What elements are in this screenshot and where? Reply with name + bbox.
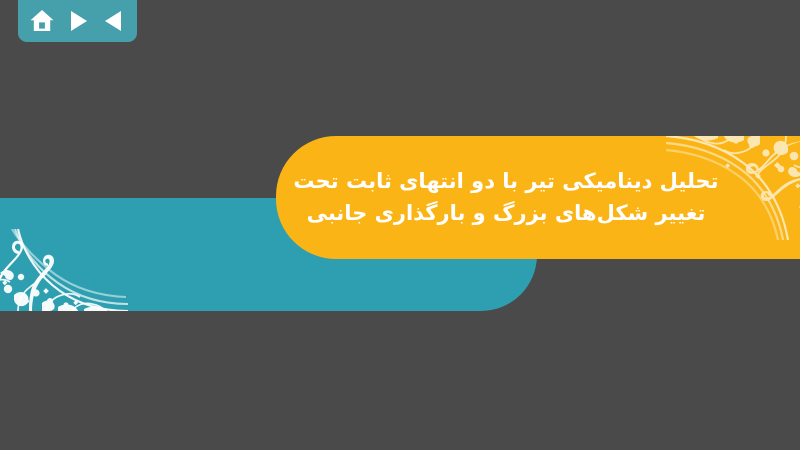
navigation-bar [18, 0, 137, 42]
presentation-slide: تحلیل دینامیکی تیر با دو انتهای ثابت تحت… [0, 0, 800, 450]
triangle-left-icon [103, 10, 123, 32]
triangle-right-icon [68, 10, 88, 32]
home-icon [29, 9, 55, 33]
next-slide-button[interactable] [65, 8, 91, 34]
arabesque-ornament-teal [0, 229, 128, 311]
previous-slide-button[interactable] [100, 8, 126, 34]
title-line-2: تغییر شکل‌های بزرگ و بارگذاری جانبی [307, 198, 706, 230]
home-button[interactable] [29, 8, 55, 34]
title-line-1: تحلیل دینامیکی تیر با دو انتهای ثابت تحت [293, 166, 718, 198]
slide-title: تحلیل دینامیکی تیر با دو انتهای ثابت تحت… [296, 136, 716, 259]
